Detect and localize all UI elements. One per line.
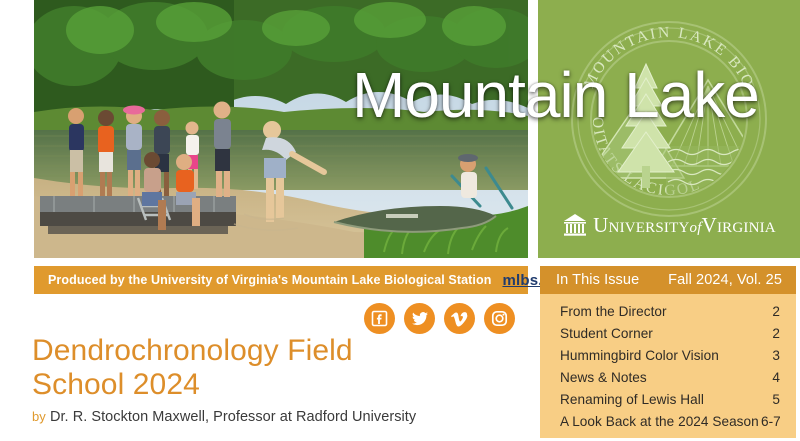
toc-label: News & Notes <box>560 371 647 385</box>
byline-author: Dr. R. Stockton Maxwell, Professor at Ra… <box>50 409 416 425</box>
twitter-icon[interactable] <box>404 303 435 334</box>
byline-by-label: by <box>32 409 46 424</box>
toc-page: 3 <box>758 349 780 363</box>
social-links <box>364 303 515 334</box>
issue-volume-label: Fall 2024, Vol. 25 <box>668 272 782 288</box>
toc-page: 2 <box>758 327 780 341</box>
toc-label: Renaming of Lewis Hall <box>560 393 704 407</box>
produced-by-text: Produced by the University of Virginia's… <box>48 273 491 287</box>
toc-page: 2 <box>758 305 780 319</box>
toc-page: 5 <box>758 393 780 407</box>
produced-by-bar: Produced by the University of Virginia's… <box>34 266 528 294</box>
feature-title-line1: Dendrochronology Field <box>32 334 532 368</box>
feature-byline: by Dr. R. Stockton Maxwell, Professor at… <box>32 409 532 425</box>
in-this-issue-title: In This Issue <box>556 272 639 288</box>
list-item[interactable]: Hummingbird Color Vision 3 <box>560 349 780 363</box>
uva-logo-lockup: UNIVERSITYofVIRGINIA <box>556 208 782 242</box>
in-this-issue-panel: In This Issue Fall 2024, Vol. 25 From th… <box>540 266 796 438</box>
facebook-icon[interactable] <box>364 303 395 334</box>
feature-article: Dendrochronology Field School 2024 by Dr… <box>32 334 532 425</box>
list-item[interactable]: Student Corner 2 <box>560 327 780 341</box>
page-title: Mountain Lake <box>352 63 759 127</box>
list-item[interactable]: From the Director 2 <box>560 305 780 319</box>
newsletter-cover: MOUNTAIN LAKE BIO NOITATS LACIGOL <box>0 0 800 441</box>
toc-page: 6-7 <box>759 415 781 429</box>
toc-label: A Look Back at the 2024 Season <box>560 415 759 429</box>
uva-wordmark: UNIVERSITYofVIRGINIA <box>593 215 776 236</box>
feature-title: Dendrochronology Field School 2024 <box>32 334 532 402</box>
uva-rotunda-icon <box>562 213 588 237</box>
list-item[interactable]: A Look Back at the 2024 Season 6-7 <box>560 415 780 429</box>
in-this-issue-header: In This Issue Fall 2024, Vol. 25 <box>540 266 796 294</box>
toc-label: Hummingbird Color Vision <box>560 349 719 363</box>
toc-label: From the Director <box>560 305 667 319</box>
list-item[interactable]: Renaming of Lewis Hall 5 <box>560 393 780 407</box>
toc-page: 4 <box>758 371 780 385</box>
feature-title-line2: School 2024 <box>32 368 532 402</box>
instagram-icon[interactable] <box>484 303 515 334</box>
toc-label: Student Corner <box>560 327 653 341</box>
list-item[interactable]: News & Notes 4 <box>560 371 780 385</box>
table-of-contents: From the Director 2 Student Corner 2 Hum… <box>540 294 796 429</box>
vimeo-icon[interactable] <box>444 303 475 334</box>
